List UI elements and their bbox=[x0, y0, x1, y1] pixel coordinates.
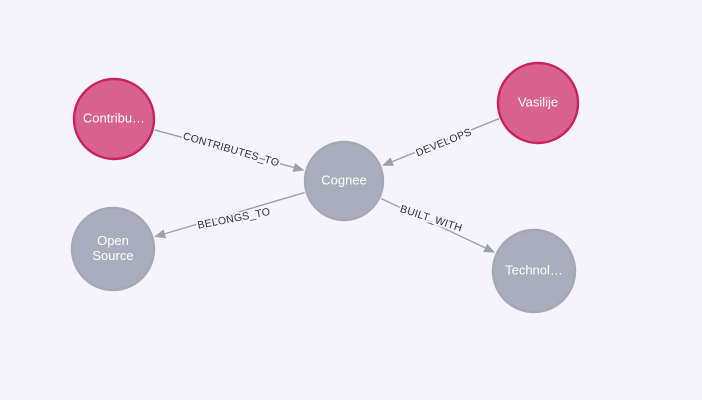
node-circle-open_source[interactable] bbox=[72, 208, 154, 290]
edge-arrowhead-contributes_to bbox=[293, 163, 305, 172]
graph-node-open_source[interactable]: OpenSource bbox=[72, 208, 154, 290]
edge-arrowhead-belongs_to bbox=[154, 229, 166, 238]
node-circle-vasilije[interactable] bbox=[498, 63, 578, 143]
graph-visualization[interactable]: CONTRIBUTES_TODEVELOPSBELONGS_TOBUILT_WI… bbox=[0, 0, 702, 400]
graph-node-contributor[interactable]: Contribu… bbox=[74, 79, 154, 159]
nodes-layer: Contribu…VasilijeCogneeOpenSourceTechnol… bbox=[72, 63, 578, 312]
graph-node-cognee[interactable]: Cognee bbox=[305, 142, 383, 220]
edge-label-built_with: BUILT_WITH bbox=[398, 203, 463, 234]
edge-label-develops: DEVELOPS bbox=[414, 126, 473, 159]
edge-label-belongs_to: BELONGS_TO bbox=[196, 206, 271, 232]
node-circle-contributor[interactable] bbox=[74, 79, 154, 159]
edge-arrowhead-develops bbox=[382, 157, 394, 166]
node-circle-technology[interactable] bbox=[493, 230, 575, 312]
graph-canvas[interactable]: CONTRIBUTES_TODEVELOPSBELONGS_TOBUILT_WI… bbox=[0, 0, 702, 400]
graph-node-technology[interactable]: Technol… bbox=[493, 230, 575, 312]
node-circle-cognee[interactable] bbox=[305, 142, 383, 220]
edge-label-contributes_to: CONTRIBUTES_TO bbox=[181, 130, 280, 169]
graph-node-vasilije[interactable]: Vasilije bbox=[498, 63, 578, 143]
